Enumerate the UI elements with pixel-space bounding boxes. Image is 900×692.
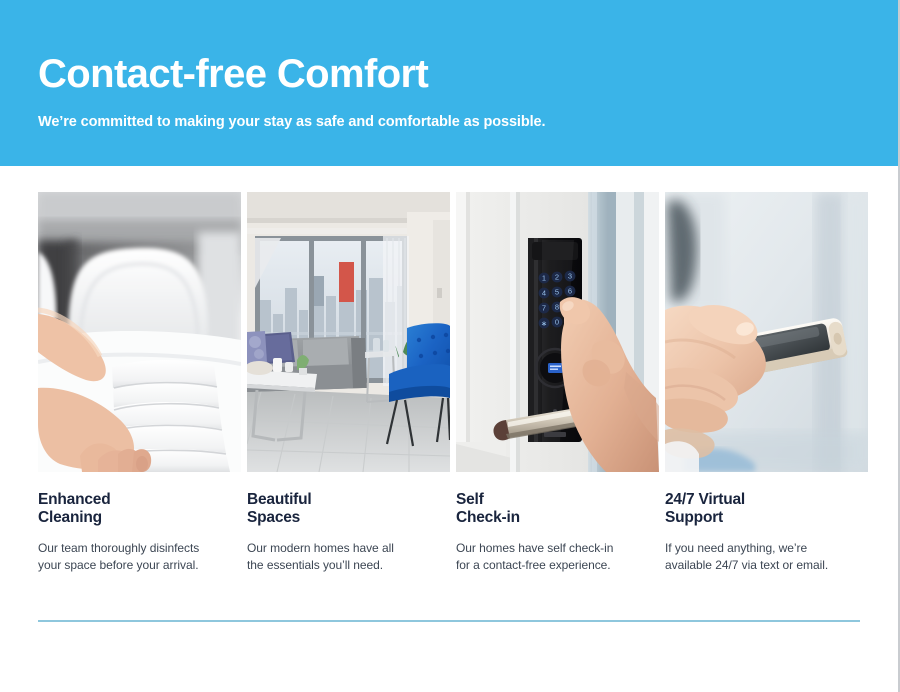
svg-text:3: 3: [568, 272, 572, 281]
promo-page: Contact-free Comfort We’re committed to …: [0, 0, 900, 692]
svg-text:0: 0: [555, 318, 559, 327]
feature-card-virtual-support[interactable]: 24/7 Virtual Support If you need anythin…: [665, 192, 868, 573]
hero-banner: Contact-free Comfort We’re committed to …: [0, 0, 898, 166]
card-image-smart-lock: 1 2 3 4 5 6 7 8 9 ∗ 0 ⌘: [456, 192, 659, 472]
feature-card-self-checkin[interactable]: 1 2 3 4 5 6 7 8 9 ∗ 0 ⌘: [456, 192, 659, 573]
card-body: If you need anything, we’re available 24…: [665, 540, 868, 573]
card-title: 24/7 Virtual Support: [665, 491, 868, 527]
svg-text:4: 4: [542, 289, 546, 298]
card-image-towels: [38, 192, 241, 472]
card-image-living-room: [247, 192, 450, 472]
feature-card-enhanced-cleaning[interactable]: Enhanced Cleaning Our team thoroughly di…: [38, 192, 241, 573]
page-subtitle: We’re committed to making your stay as s…: [38, 113, 545, 132]
svg-text:∗: ∗: [541, 319, 547, 328]
page-title: Contact-free Comfort: [38, 52, 428, 96]
svg-text:5: 5: [555, 288, 559, 297]
card-image-phone-in-hand: [665, 192, 868, 472]
feature-card-beautiful-spaces[interactable]: Beautiful Spaces Our modern homes have a…: [247, 192, 450, 573]
svg-text:2: 2: [555, 273, 559, 282]
card-title: Beautiful Spaces: [247, 491, 450, 527]
svg-text:8: 8: [555, 303, 559, 312]
svg-text:7: 7: [542, 304, 546, 313]
card-title: Enhanced Cleaning: [38, 491, 241, 527]
section-divider: [38, 620, 860, 622]
feature-card-grid: Enhanced Cleaning Our team thoroughly di…: [38, 192, 862, 573]
svg-text:6: 6: [568, 287, 572, 296]
card-body: Our team thoroughly disinfects your spac…: [38, 540, 241, 573]
card-body: Our modern homes have all the essentials…: [247, 540, 450, 573]
card-title: Self Check-in: [456, 491, 659, 527]
card-body: Our homes have self check-in for a conta…: [456, 540, 659, 573]
svg-text:1: 1: [542, 274, 546, 283]
